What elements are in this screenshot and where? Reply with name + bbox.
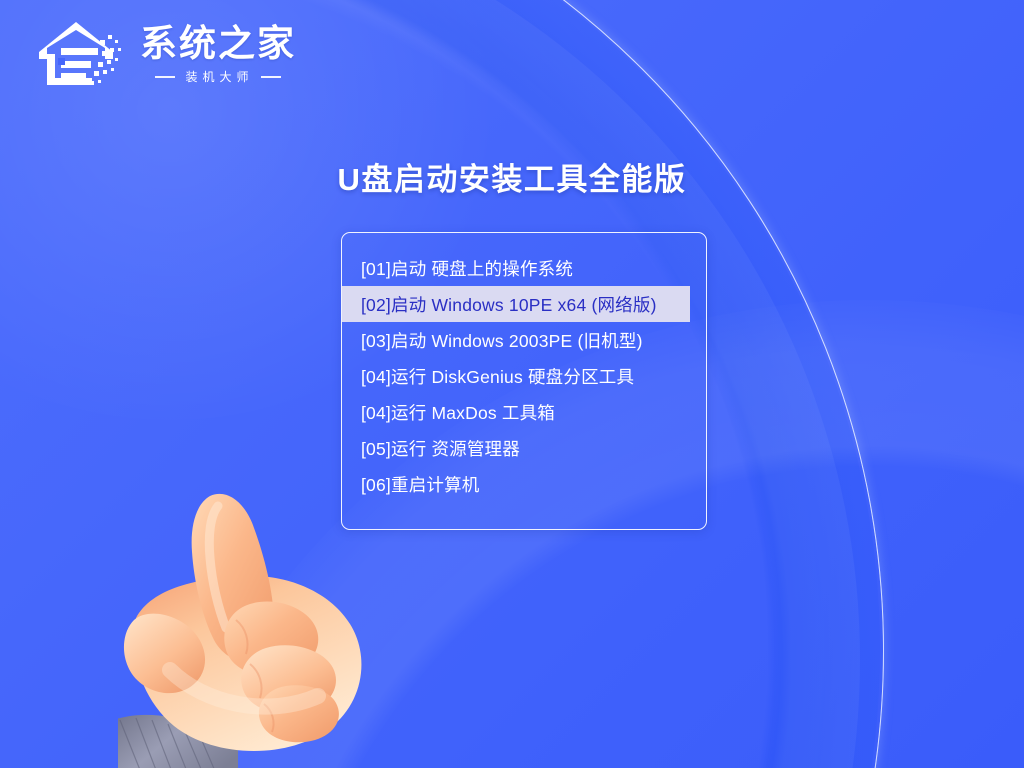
boot-menu-screen: 系统之家 装机大师 U盘启动安装工具全能版 [01]启动 硬盘上的操作系统 [0…: [0, 0, 1024, 768]
pointing-hand-3d-illustration-icon: [118, 470, 418, 768]
boot-menu-item-04-maxdos[interactable]: [04]运行 MaxDos 工具箱: [342, 394, 690, 430]
tagline-dash-right-icon: [261, 76, 281, 78]
brand-wordmark: 系统之家: [140, 25, 296, 64]
brand-tagline-row: 装机大师: [155, 68, 280, 85]
boot-menu-item-03[interactable]: [03]启动 Windows 2003PE (旧机型): [342, 322, 690, 358]
boot-menu-item-01[interactable]: [01]启动 硬盘上的操作系统: [342, 250, 690, 286]
page-title: U盘启动安装工具全能版: [0, 154, 1024, 199]
boot-menu-item-02[interactable]: [02]启动 Windows 10PE x64 (网络版): [342, 286, 690, 322]
tagline-dash-left-icon: [155, 76, 175, 78]
boot-menu-item-05[interactable]: [05]运行 资源管理器: [342, 430, 690, 466]
brand-logo: 系统之家 装机大师: [36, 18, 296, 90]
brand-text: 系统之家 装机大师: [140, 25, 296, 86]
boot-menu-item-04-diskgenius[interactable]: [04]运行 DiskGenius 硬盘分区工具: [342, 358, 690, 394]
house-e-pixel-logo-icon: [36, 18, 128, 90]
brand-tagline: 装机大师: [182, 68, 253, 85]
